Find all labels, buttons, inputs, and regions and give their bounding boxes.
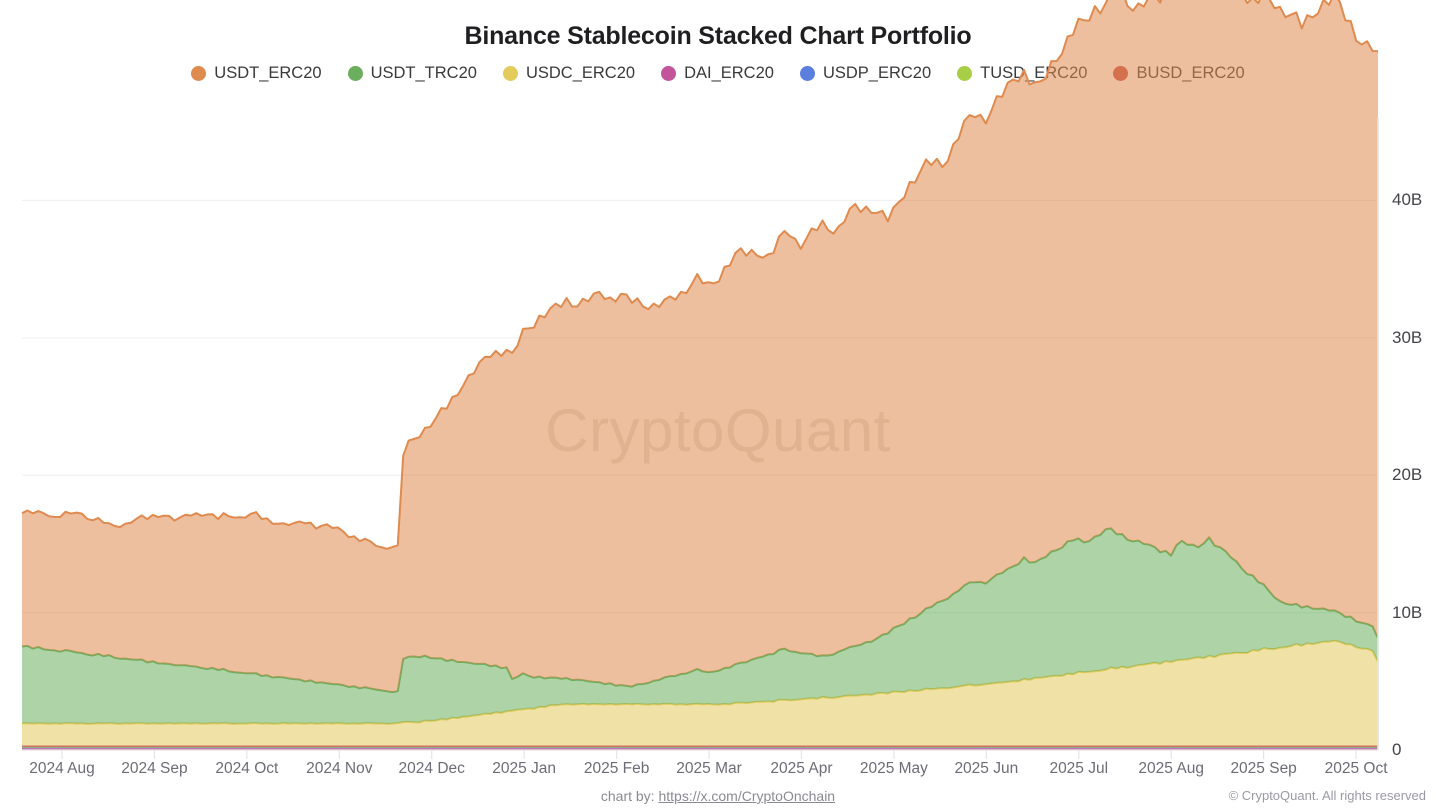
x-axis-tick-label: 2025 Apr bbox=[770, 760, 832, 778]
y-axis-tick-label: 40B bbox=[1392, 190, 1422, 210]
y-axis-tick-label: 10B bbox=[1392, 603, 1422, 623]
x-axis-tick-label: 2025 Oct bbox=[1325, 760, 1388, 778]
y-axis-tick-label: 30B bbox=[1392, 328, 1422, 348]
x-axis-tick-label: 2024 Sep bbox=[121, 760, 187, 778]
stacked-area-chart-svg bbox=[0, 0, 1436, 810]
x-axis-tick-label: 2025 May bbox=[860, 760, 928, 778]
y-axis-tick-label: 0 bbox=[1392, 740, 1401, 760]
x-axis-tick-label: 2024 Oct bbox=[215, 760, 278, 778]
x-axis-tick-label: 2025 Mar bbox=[676, 760, 741, 778]
x-axis-tick-label: 2025 Sep bbox=[1230, 760, 1296, 778]
x-axis-tick-label: 2025 Aug bbox=[1138, 760, 1204, 778]
copyright-notice: © CryptoQuant. All rights reserved bbox=[1229, 788, 1426, 803]
chart-plot-area[interactable] bbox=[0, 0, 1436, 810]
cryptoonchain-link[interactable]: https://x.com/CryptoOnchain bbox=[658, 788, 835, 804]
x-axis-tick-label: 2025 Feb bbox=[584, 760, 650, 778]
x-axis-tick-label: 2025 Jul bbox=[1049, 760, 1108, 778]
y-axis-tick-label: 20B bbox=[1392, 465, 1422, 485]
stack-band-busd_erc20 bbox=[22, 745, 1378, 746]
x-axis-tick-label: 2024 Aug bbox=[29, 760, 95, 778]
x-axis-tick-label: 2025 Jun bbox=[954, 760, 1018, 778]
x-axis-tick-label: 2024 Nov bbox=[306, 760, 372, 778]
chart-credit-prefix: chart by: bbox=[601, 788, 659, 804]
x-axis-tick-label: 2024 Dec bbox=[399, 760, 465, 778]
chart-credit: chart by: https://x.com/CryptoOnchain bbox=[0, 788, 1436, 804]
x-axis-tick-label: 2025 Jan bbox=[492, 760, 556, 778]
